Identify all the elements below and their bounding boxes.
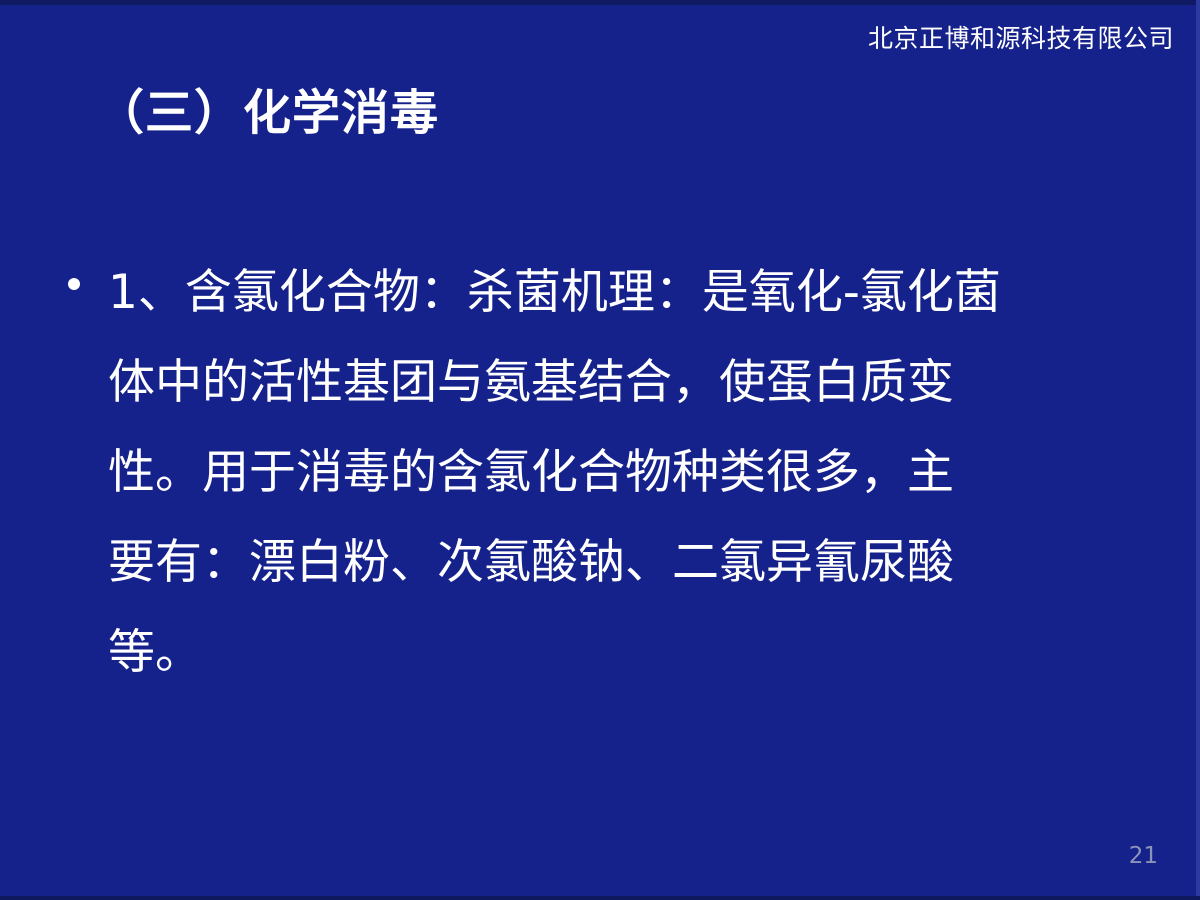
bullet-dot-icon <box>68 278 80 290</box>
presentation-slide: 北京正博和源科技有限公司 （三）化学消毒 1、含氯化合物：杀菌机理：是氧化-氯化… <box>0 0 1200 900</box>
body-line: 1、含氯化合物：杀菌机理：是氧化-氯化菌 <box>108 248 1152 338</box>
body-line: 要有：漂白粉、次氯酸钠、二氯异氰尿酸 <box>108 518 1152 608</box>
slide-right-edge-band <box>1196 0 1200 900</box>
body-line: 体中的活性基团与氨基结合，使蛋白质变 <box>108 338 1152 428</box>
page-number: 21 <box>1129 842 1158 870</box>
slide-bottom-edge-band <box>0 896 1200 900</box>
body-line: 性。用于消毒的含氯化合物种类很多，主 <box>108 428 1152 518</box>
header-company-name: 北京正博和源科技有限公司 <box>868 24 1174 54</box>
bullet-list-item: 1、含氯化合物：杀菌机理：是氧化-氯化菌 体中的活性基团与氨基结合，使蛋白质变 … <box>62 248 1152 698</box>
body-line: 等。 <box>108 608 1152 698</box>
slide-title: （三）化学消毒 <box>96 84 439 142</box>
slide-top-edge-band <box>0 0 1200 5</box>
bullet-text-lines: 1、含氯化合物：杀菌机理：是氧化-氯化菌 体中的活性基团与氨基结合，使蛋白质变 … <box>62 248 1152 698</box>
slide-body: 1、含氯化合物：杀菌机理：是氧化-氯化菌 体中的活性基团与氨基结合，使蛋白质变 … <box>62 248 1152 698</box>
